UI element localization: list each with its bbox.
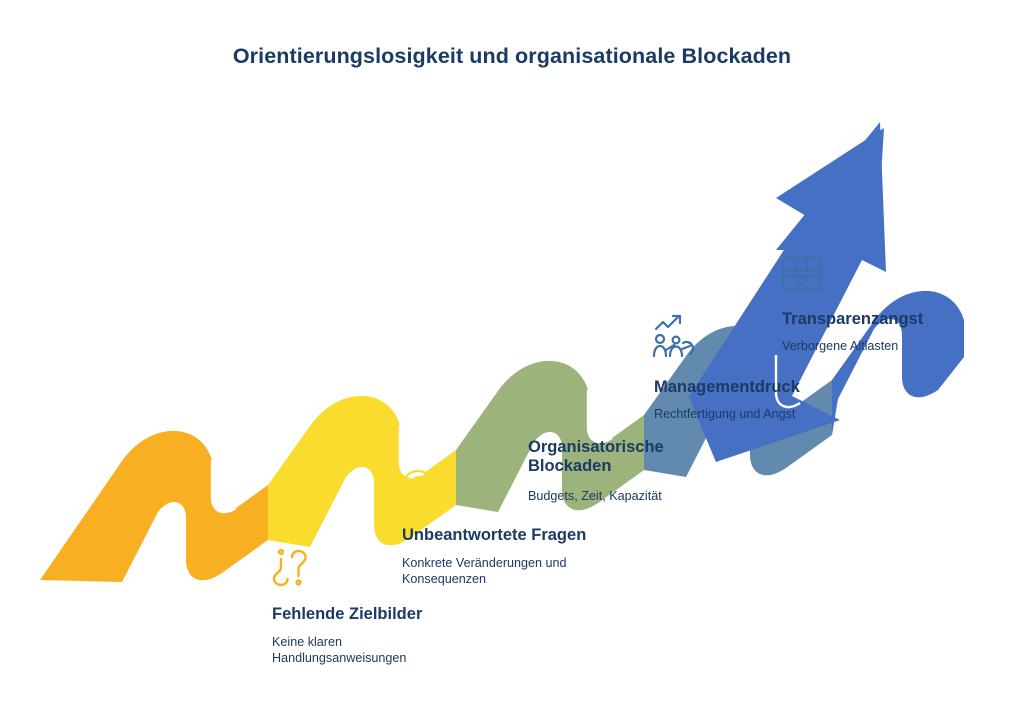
step-5[interactable]: Transparenzangst Verborgene Altlasten <box>778 250 1024 380</box>
step-2-subtitle: Konkrete Veränderungen und Konsequenzen <box>402 555 567 587</box>
treasure-chest-icon <box>778 250 826 298</box>
step-3-subtitle: Budgets, Zeit, Kapazität <box>528 488 662 504</box>
step-1-subtitle: Keine klaren Handlungsanweisungen <box>272 634 406 666</box>
infographic-canvas: Orientierungslosigkeit und organisationa… <box>0 0 1024 707</box>
step-4-subtitle: Rechtfertigung und Angst <box>654 406 795 422</box>
ribbon-fold-1 <box>212 460 236 512</box>
step-4-title: Managementdruck <box>654 378 800 397</box>
trend-arrow-people-icon <box>650 312 702 360</box>
step-5-title: Transparenzangst <box>782 310 923 329</box>
step-5-subtitle: Verborgene Altlasten <box>782 338 898 354</box>
question-marks-icon <box>268 543 316 591</box>
step-1-title: Fehlende Zielbilder <box>272 605 422 624</box>
step-3-title: Organisatorische Blockaden <box>528 438 664 476</box>
magnifier-head-question-icon <box>398 466 446 514</box>
open-padlock-icon <box>524 378 572 426</box>
ribbon-segment-1 <box>40 431 268 582</box>
step-2-title: Unbeantwortete Fragen <box>402 526 586 545</box>
